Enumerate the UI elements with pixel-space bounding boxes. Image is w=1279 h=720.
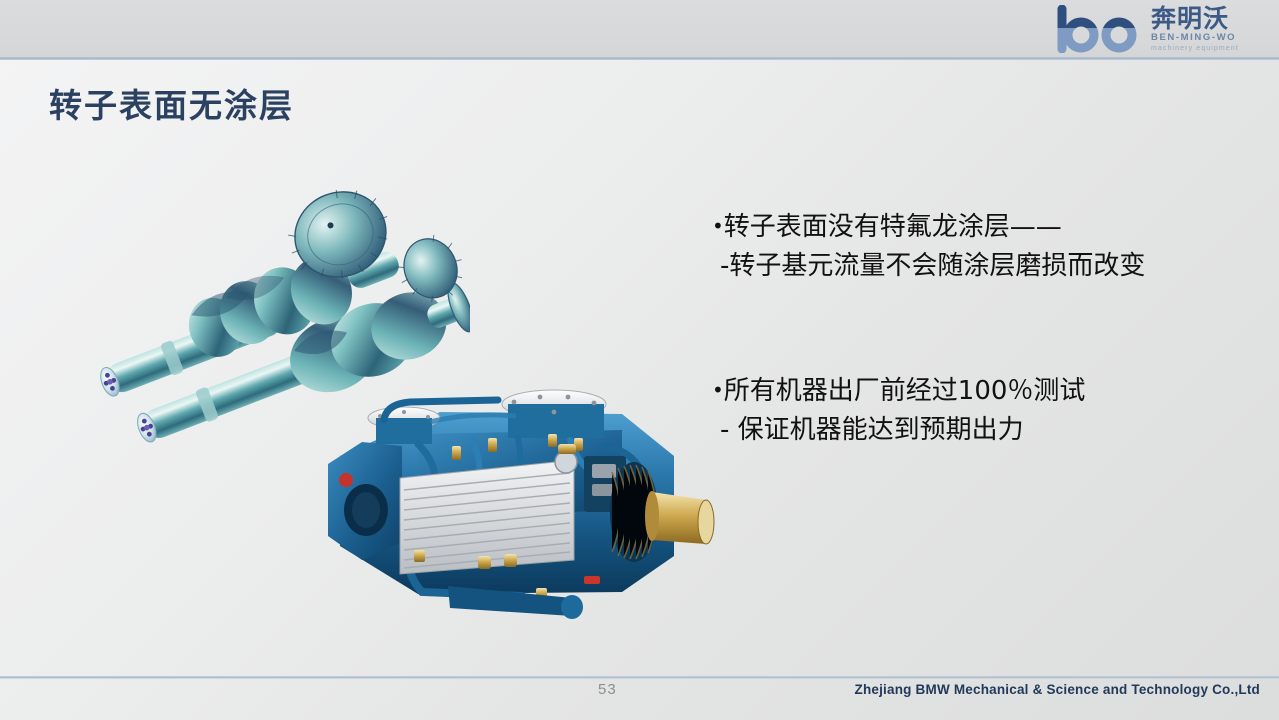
logo-wordmark: 奔明沃 BEN-MING-WO machinery equipment <box>1151 6 1239 52</box>
bullet-marker: • <box>712 214 724 238</box>
bullet-line-primary: •转子表面没有特氟龙涂层—— <box>712 208 1252 247</box>
screw-compressor-unit-photo <box>322 360 722 640</box>
bullet-text: 所有机器出厂前经过100％测试 <box>724 376 1086 406</box>
bullet-line-secondary: - 保证机器能达到预期出力 <box>712 411 1252 450</box>
logo-english-name: BEN-MING-WO <box>1151 33 1239 43</box>
company-logo: 奔明沃 BEN-MING-WO machinery equipment <box>1053 3 1265 55</box>
slide: 奔明沃 BEN-MING-WO machinery equipment 转子表面… <box>0 0 1279 720</box>
bullet-text: 转子表面没有特氟龙涂层—— <box>724 212 1062 242</box>
bo-monogram-icon <box>1053 5 1145 53</box>
bullet-block: •转子表面没有特氟龙涂层—— -转子基元流量不会随涂层磨损而改变 <box>712 208 1252 286</box>
page-number: 53 <box>598 681 617 698</box>
page-title: 转子表面无涂层 <box>49 79 294 127</box>
logo-chinese-name: 奔明沃 <box>1151 6 1239 31</box>
logo-tagline: machinery equipment <box>1151 45 1239 52</box>
header-divider <box>0 57 1279 60</box>
content-bullets: •转子表面没有特氟龙涂层—— -转子基元流量不会随涂层磨损而改变 •所有机器出厂… <box>712 208 1252 450</box>
bullet-line-primary: •所有机器出厂前经过100％测试 <box>712 372 1252 411</box>
bullet-marker: • <box>712 378 724 402</box>
bullet-line-secondary: -转子基元流量不会随涂层磨损而改变 <box>712 247 1252 286</box>
bullet-block: •所有机器出厂前经过100％测试 - 保证机器能达到预期出力 <box>712 372 1252 450</box>
footer-divider <box>0 676 1279 679</box>
footer-company-name: Zhejiang BMW Mechanical & Science and Te… <box>855 682 1261 697</box>
